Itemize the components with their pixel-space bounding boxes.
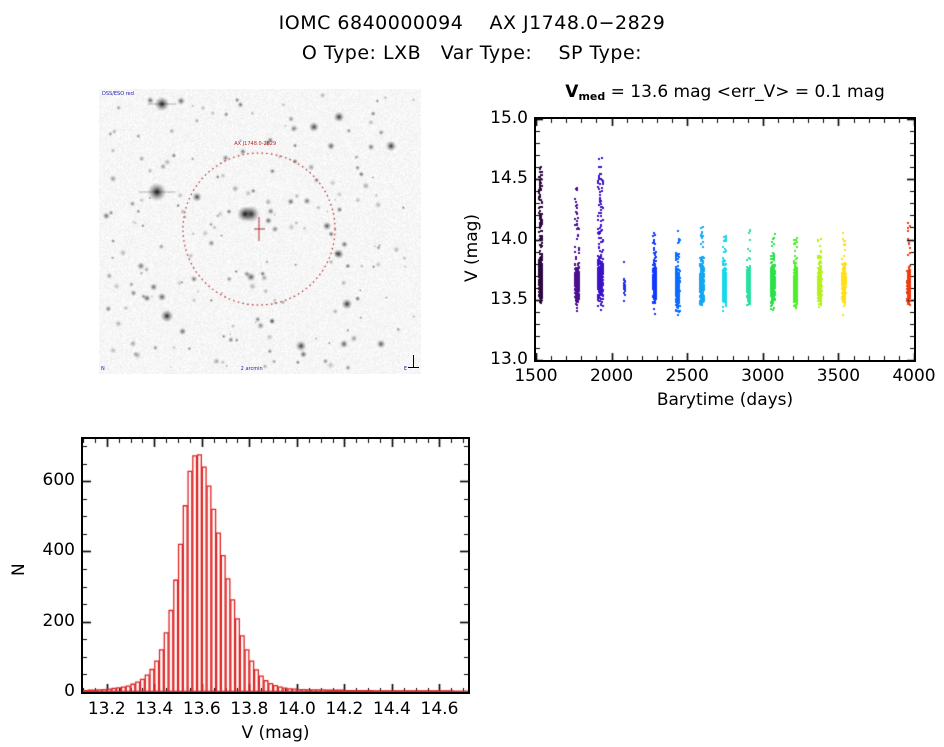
histogram-xtick-label: 14.2	[318, 699, 370, 719]
histogram-ytick-label: 400	[29, 540, 75, 560]
finder-scale-label: 2 arcmin	[241, 366, 263, 372]
lightcurve-xtick-label: 1500	[510, 366, 562, 386]
histogram-plot	[81, 437, 470, 694]
histogram-x-axis-title: V (mag)	[81, 723, 470, 743]
histogram-xtick-label: 13.4	[128, 699, 180, 719]
finder-north-bar	[413, 355, 414, 368]
lightcurve-ytick-label: 15.0	[484, 108, 528, 128]
histogram-xtick-label: 13.6	[176, 699, 228, 719]
histogram-xtick-label: 14.0	[271, 699, 323, 719]
histogram-canvas	[83, 439, 468, 692]
lightcurve-xtick-label: 3500	[812, 366, 864, 386]
histogram-xtick-label: 13.2	[81, 699, 133, 719]
lightcurve-ytick-label: 13.5	[484, 289, 528, 309]
lightcurve-x-axis-title: Barytime (days)	[534, 390, 916, 410]
finder-survey-label: DSS/ESO red	[102, 91, 134, 97]
vmed-subscript: med	[578, 90, 605, 103]
lightcurve-ytick-label: 13.0	[484, 349, 528, 369]
vmed-values: = 13.6 mag <err_V> = 0.1 mag	[605, 82, 885, 102]
vmed-symbol: V	[565, 82, 578, 102]
figure-header: IOMC 6840000094 AX J1748.0−2829 O Type: …	[0, 0, 944, 64]
histogram-xtick-label: 13.8	[223, 699, 275, 719]
lightcurve-ytick-label: 14.5	[484, 168, 528, 188]
lightcurve-canvas	[536, 119, 914, 360]
histogram-xtick-label: 14.6	[413, 699, 465, 719]
histogram-ytick-label: 200	[29, 611, 75, 631]
finder-north-label: N	[101, 366, 105, 372]
finder-chart-image	[99, 89, 421, 374]
lightcurve-plot	[534, 117, 916, 362]
lightcurve-xtick-label: 2500	[661, 366, 713, 386]
finder-object-label: AX J1748.0-2829	[234, 141, 276, 147]
lightcurve-xtick-label: 2000	[586, 366, 638, 386]
lightcurve-xtick-label: 3000	[737, 366, 789, 386]
histogram-y-axis-title: N	[9, 563, 29, 576]
median-magnitude-stats: Vmed = 13.6 mag <err_V> = 0.1 mag	[534, 82, 916, 102]
histogram-ytick-label: 0	[29, 681, 75, 701]
lightcurve-xtick-label: 4000	[888, 366, 940, 386]
object-type-line: O Type: LXB Var Type: SP Type:	[0, 42, 944, 64]
finder-east-label: E	[404, 366, 407, 372]
finder-chart: DSS/ESO red AX J1748.0-2829 N 2 arcmin E	[99, 89, 421, 374]
histogram-ytick-label: 600	[29, 470, 75, 490]
histogram-xtick-label: 14.4	[366, 699, 418, 719]
lightcurve-y-axis-title: V (mag)	[462, 213, 482, 281]
page-title: IOMC 6840000094 AX J1748.0−2829	[0, 12, 944, 34]
lightcurve-ytick-label: 14.0	[484, 229, 528, 249]
